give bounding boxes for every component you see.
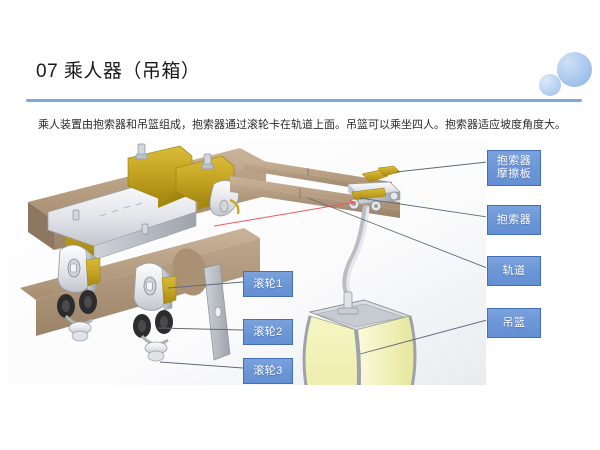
- callout-label-cabin[interactable]: 吊篮: [487, 308, 541, 338]
- callout-line-1: 抱索器: [497, 155, 532, 168]
- callout-line-1: 轨道: [503, 265, 526, 278]
- callout-label-track[interactable]: 轨道: [487, 256, 541, 286]
- callout-label-roller-3[interactable]: 滚轮3: [243, 358, 293, 384]
- decorative-circle-large-icon: [557, 52, 592, 87]
- slide-canvas: 07 乘人器（吊箱） 乘人装置由抱索器和吊篮组成，抱索器通过滚轮卡在轨道上面。吊…: [0, 0, 600, 450]
- assembly-illustration-svg: [8, 140, 486, 385]
- callout-label-roller-1[interactable]: 滚轮1: [243, 271, 293, 297]
- callout-label-friction-plate[interactable]: 抱索器 摩擦板: [487, 150, 541, 186]
- decorative-circle-small-icon: [539, 74, 561, 96]
- callout-line-2: 摩擦板: [497, 168, 532, 181]
- title-divider-rule: [26, 99, 582, 102]
- callout-label-gripper[interactable]: 抱索器: [487, 205, 541, 235]
- callout-line-1: 滚轮3: [253, 365, 283, 378]
- subtitle-description: 乘人装置由抱索器和吊篮组成，抱索器通过滚轮卡在轨道上面。吊篮可以乘坐四人。抱索器…: [38, 117, 566, 133]
- callout-line-1: 滚轮1: [253, 278, 283, 291]
- callout-line-1: 滚轮2: [253, 326, 283, 339]
- page-title: 07 乘人器（吊箱）: [36, 58, 200, 86]
- callout-line-1: 抱索器: [497, 214, 532, 227]
- callout-line-1: 吊篮: [503, 317, 526, 330]
- callout-label-roller-2[interactable]: 滚轮2: [243, 319, 293, 345]
- diagram-figure: [8, 140, 486, 385]
